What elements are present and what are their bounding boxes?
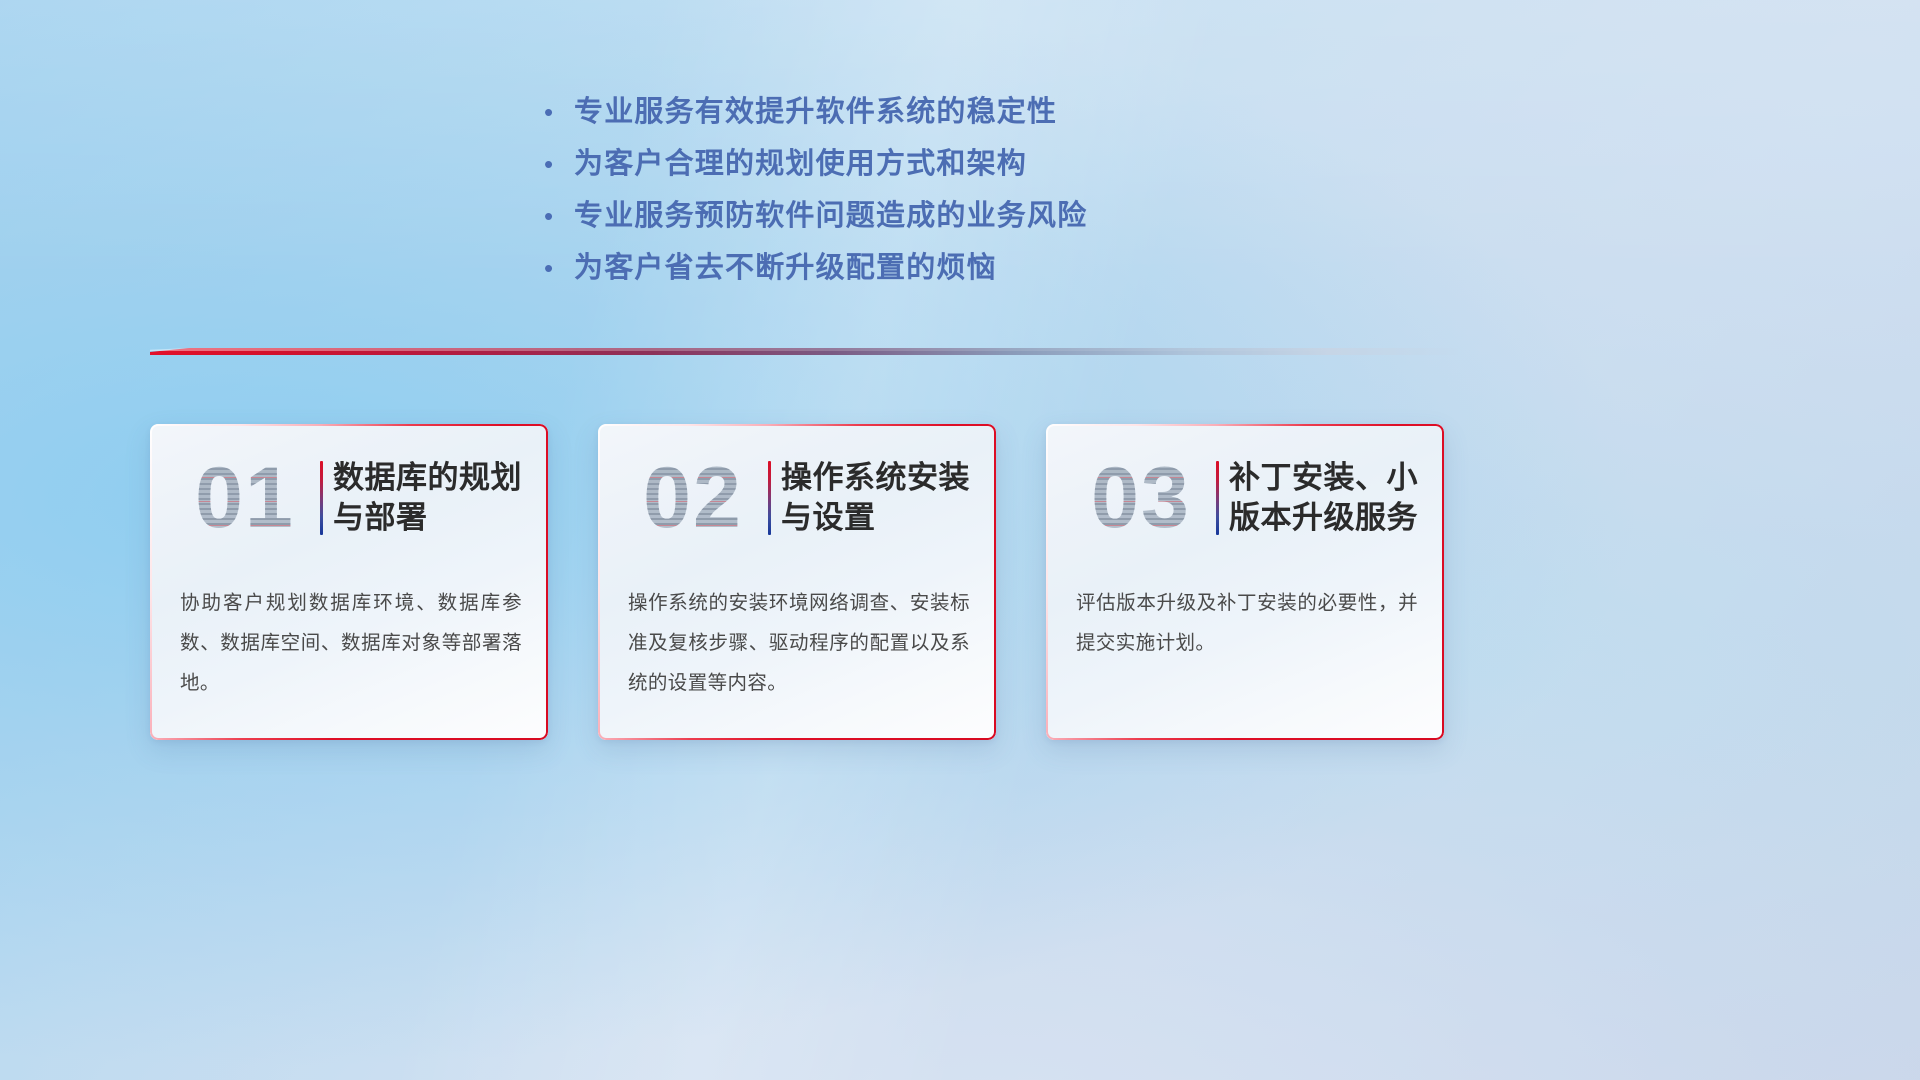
service-card[interactable]: 02 操作系统安装 与设置 操作系统的安装环境网络调查、安装标准及复核步骤、驱动… bbox=[598, 424, 996, 740]
card-title: 补丁安装、小 版本升级服务 bbox=[1229, 458, 1444, 537]
bullet-text: 专业服务有效提升软件系统的稳定性 bbox=[574, 88, 1057, 130]
card-title: 操作系统安装 与设置 bbox=[781, 458, 996, 537]
service-card[interactable]: 03 补丁安装、小 版本升级服务 评估版本升级及补丁安装的必要性，并提交实施计划… bbox=[1046, 424, 1444, 740]
card-number: 03 bbox=[1068, 446, 1214, 550]
service-card[interactable]: 01 数据库的规划 与部署 协助客户规划数据库环境、数据库参数、数据库空间、数据… bbox=[150, 424, 548, 740]
service-card-group: 01 数据库的规划 与部署 协助客户规划数据库环境、数据库参数、数据库空间、数据… bbox=[0, 424, 1920, 744]
card-divider-rule bbox=[1216, 461, 1219, 535]
card-header: 01 数据库的规划 与部署 bbox=[150, 438, 548, 558]
list-item: • 专业服务预防软件问题造成的业务风险 bbox=[536, 192, 1436, 244]
bullet-text: 为客户省去不断升级配置的烦恼 bbox=[574, 244, 997, 286]
benefits-bullet-list: • 专业服务有效提升软件系统的稳定性 • 为客户合理的规划使用方式和架构 • 专… bbox=[536, 88, 1436, 296]
card-header: 02 操作系统安装 与设置 bbox=[598, 438, 996, 558]
card-description: 评估版本升级及补丁安装的必要性，并提交实施计划。 bbox=[1076, 584, 1418, 664]
card-divider-rule bbox=[768, 461, 771, 535]
bullet-dot-icon: • bbox=[536, 99, 574, 125]
card-title: 数据库的规划 与部署 bbox=[333, 458, 548, 537]
bullet-dot-icon: • bbox=[536, 203, 574, 229]
list-item: • 为客户合理的规划使用方式和架构 bbox=[536, 140, 1436, 192]
card-number: 01 bbox=[172, 446, 318, 550]
card-divider-rule bbox=[320, 461, 323, 535]
divider-highlight bbox=[150, 348, 1460, 351]
bullet-text: 专业服务预防软件问题造成的业务风险 bbox=[574, 192, 1087, 234]
list-item: • 专业服务有效提升软件系统的稳定性 bbox=[536, 88, 1436, 140]
section-divider bbox=[150, 342, 1460, 364]
bullet-text: 为客户合理的规划使用方式和架构 bbox=[574, 140, 1027, 182]
bullet-dot-icon: • bbox=[536, 151, 574, 177]
card-description: 操作系统的安装环境网络调查、安装标准及复核步骤、驱动程序的配置以及系统的设置等内… bbox=[628, 584, 970, 704]
card-header: 03 补丁安装、小 版本升级服务 bbox=[1046, 438, 1444, 558]
card-description: 协助客户规划数据库环境、数据库参数、数据库空间、数据库对象等部署落地。 bbox=[180, 584, 522, 704]
bullet-dot-icon: • bbox=[536, 255, 574, 281]
card-number: 02 bbox=[620, 446, 766, 550]
list-item: • 为客户省去不断升级配置的烦恼 bbox=[536, 244, 1436, 296]
